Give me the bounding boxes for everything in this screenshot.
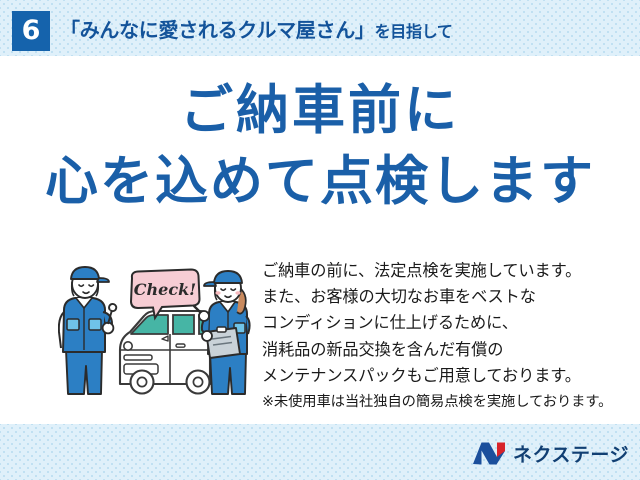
nextage-n-logo-icon <box>472 441 506 466</box>
mechanics-illustration: Check! <box>58 266 254 396</box>
promo-card: 6 「みんなに愛されるクルマ屋さん」を目指して ご納車前に 心を込めて点検します <box>0 0 640 480</box>
description-text: ご納車の前に、法定点検を実施しています。 また、お客様の大切なお車をベストな コ… <box>262 258 632 414</box>
description-line-3: コンディションに仕上げるために、 <box>262 310 632 336</box>
brand-logo: ネクステージ <box>472 439 629 467</box>
description-line-4: 消耗品の新品交換を含んだ有償の <box>262 337 632 363</box>
headline-line-1: ご納車前に <box>0 84 640 137</box>
speech-bubble-label: Check! <box>134 280 196 299</box>
header-title: 「みんなに愛されるクルマ屋さん」を目指して <box>60 14 453 43</box>
brand-name: ネクステージ <box>513 440 629 467</box>
description-line-5: メンテナンスパックもご用意しております。 <box>262 363 632 389</box>
car-graphic <box>120 311 210 394</box>
step-number-badge: 6 <box>12 11 50 51</box>
headline-line-2: 心を込めて点検します <box>0 155 640 208</box>
header-title-quoted: 「みんなに愛されるクルマ屋さん」 <box>60 18 375 42</box>
header-title-suffix: を目指して <box>375 22 453 41</box>
description-note: ※未使用車は当社独自の簡易点検を実施しております。 <box>262 391 632 414</box>
description-line-1: ご納車の前に、法定点検を実施しています。 <box>262 258 632 284</box>
page-title: ご納車前に 心を込めて点検します <box>0 84 640 208</box>
mechanic-left <box>59 267 116 394</box>
description-line-2: また、お客様の大切なお車をベストな <box>262 284 632 310</box>
